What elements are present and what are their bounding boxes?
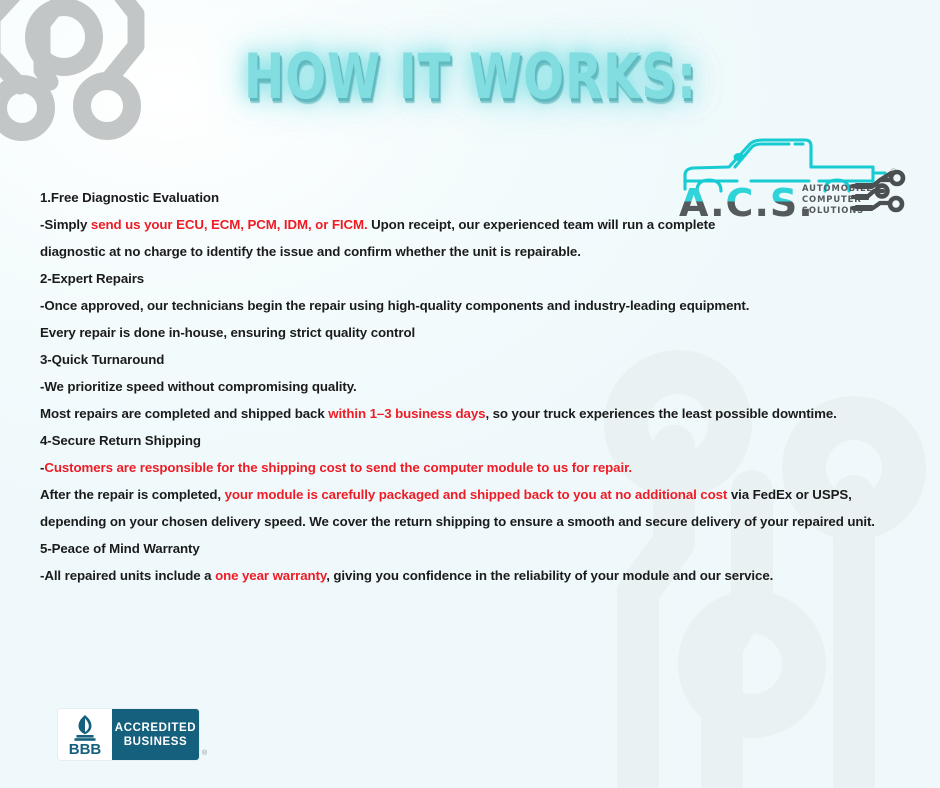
body-text: -All repaired units include a	[40, 568, 215, 583]
body-text: , so your truck experiences the least po…	[485, 406, 836, 421]
step-heading: 1.Free Diagnostic Evaluation	[40, 184, 920, 211]
bbb-accredited-label: ACCREDITED	[115, 721, 196, 735]
body-text: -We prioritize speed without compromisin…	[40, 379, 357, 394]
body-text: -Once approved, our technicians begin th…	[40, 298, 749, 313]
step-body-line: After the repair is completed, your modu…	[40, 481, 920, 508]
step-heading: 2-Expert Repairs	[40, 265, 920, 292]
bbb-acronym: BBB	[69, 742, 102, 757]
bbb-text-panel: ACCREDITED BUSINESS	[112, 709, 199, 760]
step-body-line: depending on your chosen delivery speed.…	[40, 508, 920, 535]
step-body-line: -We prioritize speed without compromisin…	[40, 373, 920, 400]
highlight-text: Customers are responsible for the shippi…	[44, 460, 632, 475]
highlight-text: one year warranty	[215, 568, 326, 583]
body-text: Most repairs are completed and shipped b…	[40, 406, 328, 421]
body-text: -Simply	[40, 217, 91, 232]
body-text: via FedEx or USPS,	[727, 487, 851, 502]
highlight-text: within 1–3 business days	[328, 406, 485, 421]
body-text: depending on your chosen delivery speed.…	[40, 514, 875, 529]
bbb-logo-panel: BBB	[58, 709, 112, 760]
body-text: diagnostic at no charge to identify the …	[40, 244, 581, 259]
steps-list: 1.Free Diagnostic Evaluation-Simply send…	[40, 184, 920, 589]
step-body-line: -All repaired units include a one year w…	[40, 562, 920, 589]
how-it-works-page: HOW IT WORKS: ® A.C.S.	[0, 0, 940, 788]
bbb-business-label: BUSINESS	[124, 735, 188, 749]
body-text: , giving you confidence in the reliabili…	[326, 568, 773, 583]
highlight-text: your module is carefully packaged and sh…	[225, 487, 728, 502]
step-body-line: -Once approved, our technicians begin th…	[40, 292, 920, 319]
highlight-text: send us your ECU, ECM, PCM, IDM, or FICM…	[91, 217, 368, 232]
step-heading: 3-Quick Turnaround	[40, 346, 920, 373]
body-text: Every repair is done in-house, ensuring …	[40, 325, 415, 340]
step-body-line: -Simply send us your ECU, ECM, PCM, IDM,…	[40, 211, 920, 238]
step-body-line: Most repairs are completed and shipped b…	[40, 400, 920, 427]
bbb-registered-mark: ®	[202, 750, 207, 757]
step-body-line: Every repair is done in-house, ensuring …	[40, 319, 920, 346]
step-body-line: -Customers are responsible for the shipp…	[40, 454, 920, 481]
step-body-line: diagnostic at no charge to identify the …	[40, 238, 920, 265]
page-title: HOW IT WORKS:	[243, 46, 696, 108]
step-heading: 4-Secure Return Shipping	[40, 427, 920, 454]
bbb-torch-icon	[72, 714, 98, 741]
step-heading: 5-Peace of Mind Warranty	[40, 535, 920, 562]
page-title-wrapper: HOW IT WORKS:	[0, 46, 940, 108]
body-text: After the repair is completed,	[40, 487, 225, 502]
body-text: Upon receipt, our experienced team will …	[368, 217, 716, 232]
bbb-accredited-business-badge[interactable]: BBB ACCREDITED BUSINESS	[58, 709, 199, 760]
